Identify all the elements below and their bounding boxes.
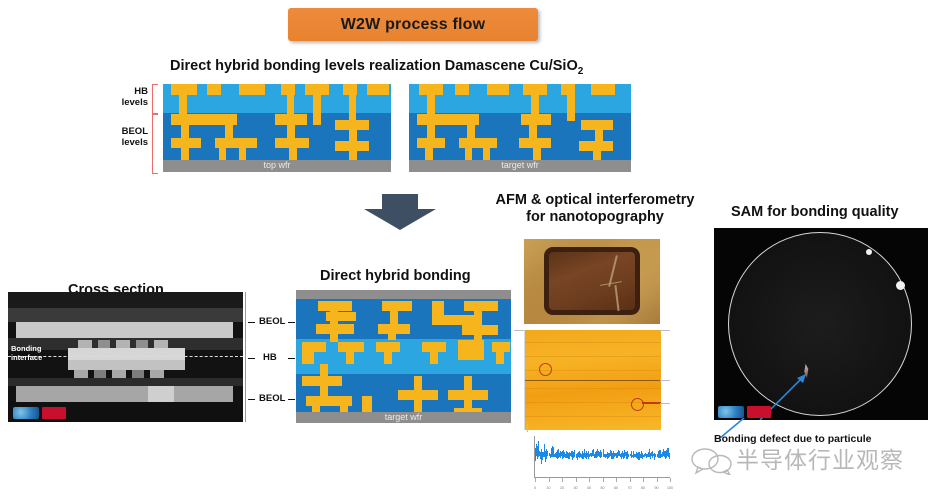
xs-pad: [98, 340, 110, 348]
cu-via: [239, 148, 246, 160]
plot-x-tick: [535, 478, 536, 482]
cu-via: [427, 125, 435, 139]
plot-x-tick-label: 70: [628, 486, 632, 490]
cu-feature: [487, 84, 509, 95]
cea-logo-icon: [718, 406, 744, 418]
cu-feature: [561, 84, 575, 95]
cu-line: [335, 141, 369, 151]
if-marker-circle-right: [631, 398, 644, 411]
cu-line: [464, 301, 498, 311]
target-wafer-diagram: target wfr: [409, 84, 631, 172]
cu-via: [330, 334, 338, 342]
plot-x-tick: [576, 478, 577, 482]
target-wafer-label: target wfr: [409, 160, 631, 171]
label-beol-bottom: BEOL: [259, 393, 285, 404]
xs-pad: [150, 370, 164, 378]
cu-line: [306, 396, 352, 406]
cu-via: [320, 364, 328, 378]
cu-pad: [492, 342, 510, 352]
afm-heading: AFM & optical interferometry for nanotop…: [480, 192, 710, 226]
cross-section-image: Bonding interface: [8, 292, 243, 422]
cu-line: [432, 315, 476, 325]
tick-beol-bottom: [248, 399, 255, 400]
cu-via: [464, 376, 472, 390]
bracket-beol-levels: [152, 114, 158, 174]
cu-via: [289, 148, 297, 160]
tick-hb-right: [288, 358, 295, 359]
cu-via: [388, 324, 396, 340]
label-beol-top: BEOL: [259, 316, 285, 327]
xs-pad: [74, 370, 88, 378]
bonded-wafer-diagram: target wfr: [296, 290, 511, 423]
step1-heading-subscript: 2: [578, 66, 584, 77]
cu-line: [398, 390, 438, 400]
cu-line: [316, 324, 354, 334]
cu-via: [533, 148, 541, 160]
sam-acoustic-image: [714, 228, 928, 420]
cu-via: [349, 151, 357, 160]
if-tick-topright: [660, 330, 670, 331]
cu-via: [313, 95, 321, 125]
cu-via: [496, 352, 504, 364]
cu-via: [390, 311, 398, 324]
cu-line: [318, 301, 352, 311]
cu-via: [430, 352, 438, 364]
cu-line: [417, 114, 479, 125]
cu-line: [459, 138, 497, 148]
plot-x-tick: [616, 478, 617, 482]
target-wafer-substrate: target wfr: [409, 160, 631, 172]
plot-x-tick-label: 90: [655, 486, 659, 490]
leti-logo-icon: [42, 407, 66, 419]
bonding-interface-line: [8, 356, 243, 357]
cu-line: [326, 312, 356, 321]
cu-via: [425, 148, 433, 160]
xs-hb-slab-lower: [68, 360, 185, 370]
afm-heading-line2: for nanotopography: [480, 209, 710, 226]
tick-beol-top-right: [288, 322, 295, 323]
cu-feature: [419, 84, 443, 95]
xs-metal-line: [16, 386, 233, 402]
nanotopography-profile-plot: 0102030405060708090100: [524, 434, 674, 490]
cu-via: [467, 125, 475, 139]
cu-line: [417, 138, 445, 148]
plot-x-tick-label: 100: [667, 486, 673, 490]
plot-x-tick-label: 60: [614, 486, 618, 490]
if-profile-cut-line: [525, 380, 661, 381]
cu-pad: [422, 342, 446, 352]
plot-x-tick: [549, 478, 550, 482]
interferometry-map-image: [524, 330, 661, 430]
step1-heading: Direct hybrid bonding levels realization…: [170, 58, 583, 77]
cu-line: [382, 301, 412, 311]
leti-logo-icon: [747, 406, 771, 418]
label-hb: HB: [263, 352, 277, 363]
cu-line: [521, 114, 551, 125]
cu-via: [474, 325, 482, 340]
cu-via: [593, 151, 601, 160]
watermark-text: 半导体行业观察: [736, 441, 904, 475]
xs-band: [8, 378, 243, 386]
cu-via: [346, 352, 354, 364]
label-beol-levels: BEOL levels: [116, 126, 148, 148]
plot-x-tick-label: 80: [641, 486, 645, 490]
bracket-hb-levels: [152, 84, 158, 114]
plot-x-tick-label: 40: [587, 486, 591, 490]
cu-via: [465, 148, 472, 160]
if-scanline: [525, 388, 661, 389]
wechat-watermark: 半导体行业观察: [688, 437, 918, 483]
cu-pad: [338, 342, 364, 352]
xs-pad: [112, 370, 126, 378]
top-wafer-label: top wfr: [163, 160, 391, 171]
xs-metal-line: [16, 322, 233, 338]
cu-via: [474, 311, 482, 325]
bonded-wafer-substrate: target wfr: [296, 412, 511, 423]
xs-hb-slab: [68, 348, 185, 360]
cu-via: [225, 125, 233, 139]
plot-x-tick-label: 30: [574, 486, 578, 490]
cu-feature: [343, 84, 357, 95]
xsec-scale-bar: [245, 292, 246, 422]
xs-pad: [116, 340, 130, 348]
bonded-top-substrate: [296, 290, 511, 299]
if-scanline: [525, 356, 661, 357]
sam-bright-spot: [866, 249, 872, 255]
xs-pad: [132, 370, 144, 378]
plot-sample: [669, 453, 670, 459]
cu-line: [215, 138, 257, 148]
tick-hb: [248, 358, 255, 359]
cu-via: [529, 125, 537, 139]
cu-line: [448, 390, 488, 400]
cu-feature: [455, 84, 469, 95]
if-tick-bottom: [527, 424, 528, 432]
cu-line: [519, 138, 551, 148]
cu-feature: [171, 84, 197, 95]
cu-feature: [591, 84, 615, 95]
label-hb-levels: HB levels: [120, 86, 148, 108]
if-marker-arrow: [642, 402, 661, 404]
direct-hybrid-bonding-heading: Direct hybrid bonding: [320, 268, 471, 284]
afm-heading-line1: AFM & optical interferometry: [480, 192, 710, 209]
cu-pad-large: [458, 340, 484, 360]
top-wafer-diagram: top wfr: [163, 84, 391, 172]
if-marker-circle-left: [539, 363, 552, 376]
if-scanline: [525, 416, 661, 417]
cu-feature: [305, 84, 329, 95]
cu-feature: [523, 84, 547, 95]
tick-beol-bottom-right: [288, 399, 295, 400]
plot-x-tick: [589, 478, 590, 482]
plot-x-tick: [643, 478, 644, 482]
if-tick-midright: [660, 380, 670, 381]
plot-x-tick: [670, 478, 671, 482]
cu-via: [181, 125, 189, 139]
plot-x-tick-label: 20: [560, 486, 564, 490]
bonding-interface-label: Bonding interface: [11, 344, 42, 362]
if-tick-topleft: [514, 330, 524, 331]
xs-pad: [136, 340, 148, 348]
cu-feature: [207, 84, 221, 95]
afm-scan-image: [524, 239, 660, 324]
cu-via: [384, 352, 392, 364]
cu-line: [275, 114, 307, 125]
cu-via: [181, 148, 189, 160]
xs-pad: [78, 340, 92, 348]
plot-x-tick-label: 10: [547, 486, 551, 490]
xs-pad: [154, 340, 168, 348]
plot-x-tick-label: 0: [534, 486, 536, 490]
if-tick-lowright: [660, 403, 670, 404]
xs-band: [8, 308, 243, 322]
cu-line: [275, 138, 309, 148]
cu-via: [483, 148, 490, 160]
bonded-wafer-label: target wfr: [296, 412, 511, 423]
cu-feature: [367, 84, 389, 95]
cu-line: [171, 114, 237, 125]
cu-feature: [239, 84, 265, 95]
cea-logo-icon: [13, 407, 39, 419]
cu-line: [581, 120, 613, 130]
plot-x-tick-label: 50: [601, 486, 605, 490]
xs-metal-bright: [148, 386, 174, 402]
process-flow-arrow: [355, 192, 445, 232]
sam-bright-spot: [896, 281, 905, 290]
cu-pad: [302, 342, 326, 352]
afm-die-region: [544, 247, 640, 315]
cu-feature: [281, 84, 295, 95]
plot-x-tick: [562, 478, 563, 482]
cu-pad: [376, 342, 400, 352]
cu-via: [349, 95, 356, 121]
xs-dark-band: [8, 292, 243, 308]
cu-line: [579, 141, 613, 151]
sam-heading: SAM for bonding quality: [731, 204, 899, 220]
slide-title-text: W2W process flow: [341, 16, 486, 34]
cu-via: [219, 148, 226, 160]
top-wafer-substrate: top wfr: [163, 160, 391, 172]
cu-pad: [302, 352, 314, 364]
cu-line: [171, 138, 201, 148]
if-scanline: [525, 342, 661, 343]
cu-via: [287, 125, 295, 139]
tick-beol-top: [248, 322, 255, 323]
slide-title-banner: W2W process flow: [288, 8, 538, 41]
plot-x-tick: [603, 478, 604, 482]
cu-via: [567, 95, 575, 121]
step1-heading-text: Direct hybrid bonding levels realization…: [170, 58, 578, 74]
xs-pad: [94, 370, 106, 378]
plot-x-tick: [630, 478, 631, 482]
plot-x-tick: [657, 478, 658, 482]
cu-line: [335, 120, 369, 130]
wechat-icon: [690, 447, 734, 475]
